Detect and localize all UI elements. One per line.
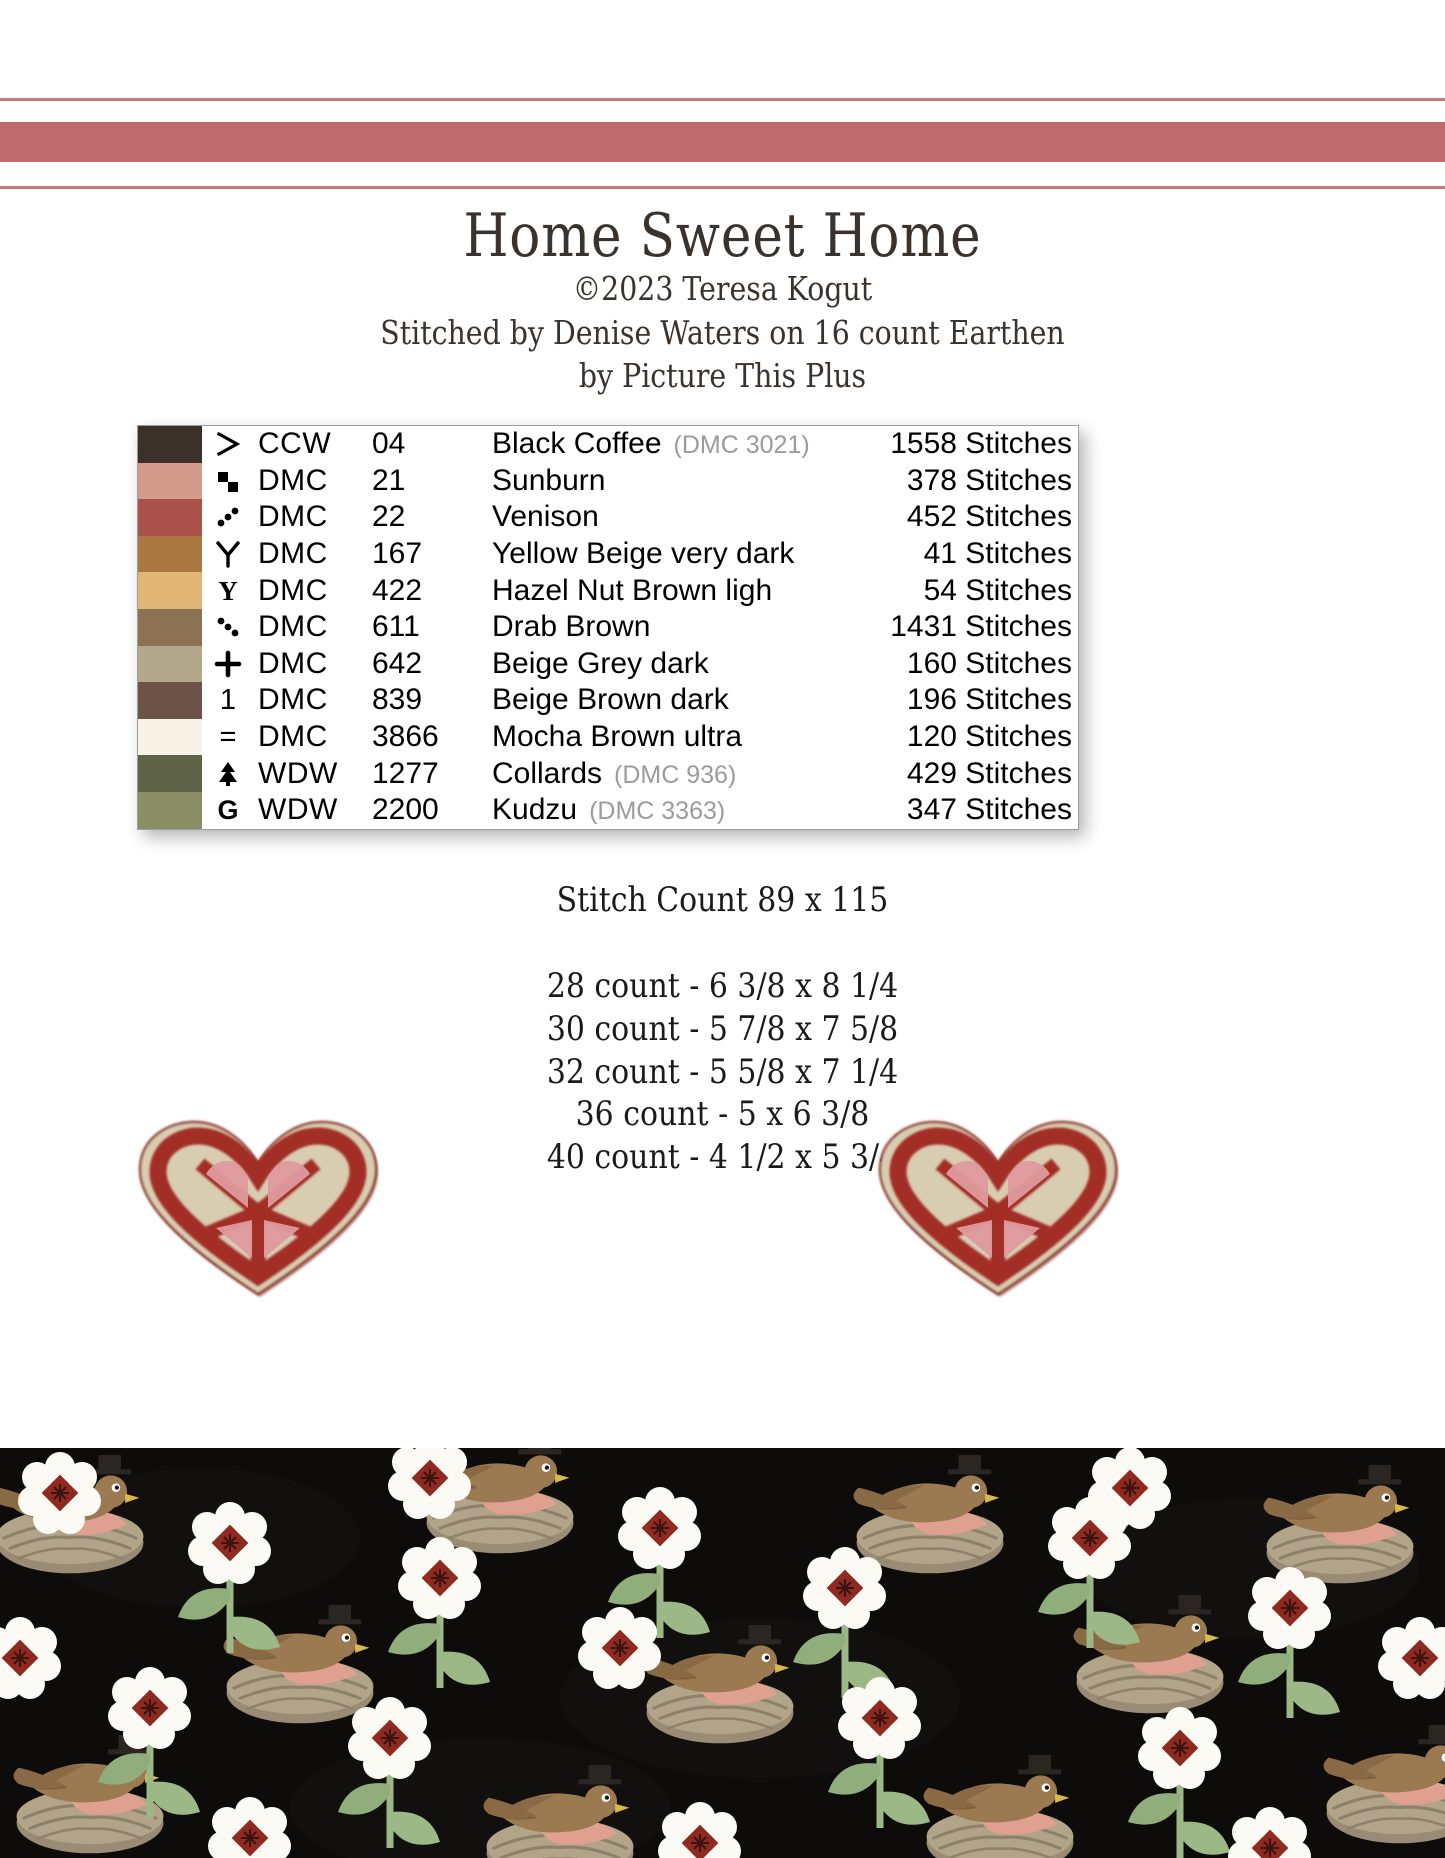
- three-dots-down-icon: [202, 609, 254, 646]
- floss-name-text: Collards: [492, 757, 602, 790]
- floss-name-text: Sunburn: [492, 464, 605, 497]
- floss-code: 21: [371, 463, 491, 500]
- floss-legend-panel: CCW04Black Coffee(DMC 3021)1558 Stitches…: [137, 425, 1079, 830]
- floss-color-swatch: [138, 646, 202, 683]
- floss-color-swatch: [138, 572, 202, 609]
- floss-brand: DMC: [254, 536, 371, 573]
- floss-stitch-count: 347 Stitches: [860, 792, 1078, 829]
- floss-color-swatch: [138, 755, 202, 792]
- stitch-count-label: Stitch Count 89 x 115: [87, 880, 1359, 920]
- plus-icon: [202, 646, 254, 683]
- floss-code: 04: [371, 426, 491, 463]
- letter-G-icon: G: [202, 792, 254, 829]
- floss-brand: DMC: [254, 572, 371, 609]
- tri-spoke-icon: [202, 536, 254, 573]
- header-rule-top: [0, 98, 1445, 101]
- floss-name-text: Kudzu: [492, 793, 577, 826]
- floss-stitch-count: 160 Stitches: [860, 646, 1078, 683]
- page-title: Home Sweet Home: [101, 206, 1344, 267]
- floss-name: Sunburn: [491, 463, 860, 500]
- floss-legend-table: CCW04Black Coffee(DMC 3021)1558 Stitches…: [138, 426, 1078, 829]
- floss-alt-code: (DMC 3021): [662, 431, 810, 459]
- floss-name: Beige Brown dark: [491, 682, 860, 719]
- greater-than-icon: [202, 426, 254, 463]
- floss-name: Drab Brown: [491, 609, 860, 646]
- floss-name: Venison: [491, 499, 860, 536]
- floss-stitch-count: 54 Stitches: [860, 572, 1078, 609]
- floss-name-text: Yellow Beige very dark: [492, 537, 794, 570]
- floss-name: Collards(DMC 936): [491, 755, 860, 792]
- table-row[interactable]: DMC22Venison452 Stitches: [138, 499, 1078, 536]
- floss-code: 2200: [371, 792, 491, 829]
- floss-stitch-count: 378 Stitches: [860, 463, 1078, 500]
- title-block: Home Sweet Home ©2023 Teresa Kogut Stitc…: [0, 206, 1445, 398]
- floss-stitch-count: 41 Stitches: [860, 536, 1078, 573]
- floss-brand: DMC: [254, 609, 371, 646]
- floss-brand: DMC: [254, 719, 371, 756]
- heart-motif-left: [128, 1108, 388, 1308]
- table-row[interactable]: DMC21Sunburn378 Stitches: [138, 463, 1078, 500]
- stitched-by-line: Stitched by Denise Waters on 16 count Ea…: [101, 311, 1344, 355]
- floss-code: 611: [371, 609, 491, 646]
- floss-color-swatch: [138, 499, 202, 536]
- floss-name-text: Beige Grey dark: [492, 647, 709, 680]
- floss-name: Yellow Beige very dark: [491, 536, 860, 573]
- floss-name: Beige Grey dark: [491, 646, 860, 683]
- floss-brand: DMC: [254, 499, 371, 536]
- floss-color-swatch: [138, 792, 202, 829]
- floss-color-swatch: [138, 682, 202, 719]
- floss-code: 1277: [371, 755, 491, 792]
- three-dots-diag-icon: [202, 499, 254, 536]
- floss-name: Hazel Nut Brown ligh: [491, 572, 860, 609]
- fabric-size-line: 28 count - 6 3/8 x 8 1/4: [87, 965, 1359, 1008]
- digit-1-icon: 1: [202, 682, 254, 719]
- fabric-swatch-image: [0, 1448, 1445, 1858]
- floss-name: Black Coffee(DMC 3021): [491, 426, 860, 463]
- table-row[interactable]: WDW1277Collards(DMC 936)429 Stitches: [138, 755, 1078, 792]
- floss-code: 422: [371, 572, 491, 609]
- floss-brand: WDW: [254, 792, 371, 829]
- floss-name-text: Venison: [492, 500, 599, 533]
- header-stripe-band: [0, 0, 1445, 200]
- floss-name: Kudzu(DMC 3363): [491, 792, 860, 829]
- heart-icon: [128, 1108, 388, 1308]
- floss-code: 839: [371, 682, 491, 719]
- table-row[interactable]: GWDW2200Kudzu(DMC 3363)347 Stitches: [138, 792, 1078, 829]
- floss-stitch-count: 452 Stitches: [860, 499, 1078, 536]
- floss-brand: CCW: [254, 426, 371, 463]
- table-row[interactable]: YDMC422Hazel Nut Brown ligh54 Stitches: [138, 572, 1078, 609]
- floss-brand: DMC: [254, 463, 371, 500]
- floss-alt-code: (DMC 936): [602, 761, 736, 789]
- floss-name-text: Beige Brown dark: [492, 683, 729, 716]
- floss-name-text: Drab Brown: [492, 610, 650, 643]
- floss-name-text: Hazel Nut Brown ligh: [492, 574, 772, 607]
- floss-stitch-count: 429 Stitches: [860, 755, 1078, 792]
- floss-stitch-count: 196 Stitches: [860, 682, 1078, 719]
- floss-stitch-count: 120 Stitches: [860, 719, 1078, 756]
- floss-brand: DMC: [254, 682, 371, 719]
- table-row[interactable]: DMC642Beige Grey dark160 Stitches: [138, 646, 1078, 683]
- floss-stitch-count: 1558 Stitches: [860, 426, 1078, 463]
- floss-code: 642: [371, 646, 491, 683]
- floss-color-swatch: [138, 463, 202, 500]
- floss-code: 3866: [371, 719, 491, 756]
- floss-alt-code: (DMC 3363): [577, 797, 725, 825]
- two-squares-icon: [202, 463, 254, 500]
- equals-icon: =: [202, 719, 254, 756]
- floss-color-swatch: [138, 609, 202, 646]
- table-row[interactable]: DMC611Drab Brown1431 Stitches: [138, 609, 1078, 646]
- heart-icon: [868, 1108, 1128, 1308]
- floss-stitch-count: 1431 Stitches: [860, 609, 1078, 646]
- floss-name-text: Black Coffee: [492, 427, 662, 460]
- floss-code: 22: [371, 499, 491, 536]
- floss-color-swatch: [138, 719, 202, 756]
- table-row[interactable]: =DMC3866Mocha Brown ultra120 Stitches: [138, 719, 1078, 756]
- table-row[interactable]: DMC167Yellow Beige very dark41 Stitches: [138, 536, 1078, 573]
- floss-code: 167: [371, 536, 491, 573]
- fabric-pattern: [0, 1448, 1445, 1858]
- table-row[interactable]: CCW04Black Coffee(DMC 3021)1558 Stitches: [138, 426, 1078, 463]
- tree-icon: [202, 755, 254, 792]
- fabric-size-line: 32 count - 5 5/8 x 7 1/4: [87, 1051, 1359, 1094]
- copyright-line: ©2023 Teresa Kogut: [101, 267, 1344, 311]
- floss-brand: WDW: [254, 755, 371, 792]
- fabric-by-line: by Picture This Plus: [101, 354, 1344, 398]
- floss-color-swatch: [138, 426, 202, 463]
- heart-motif-right: [868, 1108, 1128, 1308]
- floss-brand: DMC: [254, 646, 371, 683]
- table-row[interactable]: 1DMC839Beige Brown dark196 Stitches: [138, 682, 1078, 719]
- letter-Y-icon: Y: [202, 572, 254, 609]
- floss-name: Mocha Brown ultra: [491, 719, 860, 756]
- floss-name-text: Mocha Brown ultra: [492, 720, 742, 753]
- header-accent-band: [0, 122, 1445, 162]
- header-rule-bottom: [0, 186, 1445, 189]
- fabric-size-line: 30 count - 5 7/8 x 7 5/8: [87, 1008, 1359, 1051]
- floss-color-swatch: [138, 536, 202, 573]
